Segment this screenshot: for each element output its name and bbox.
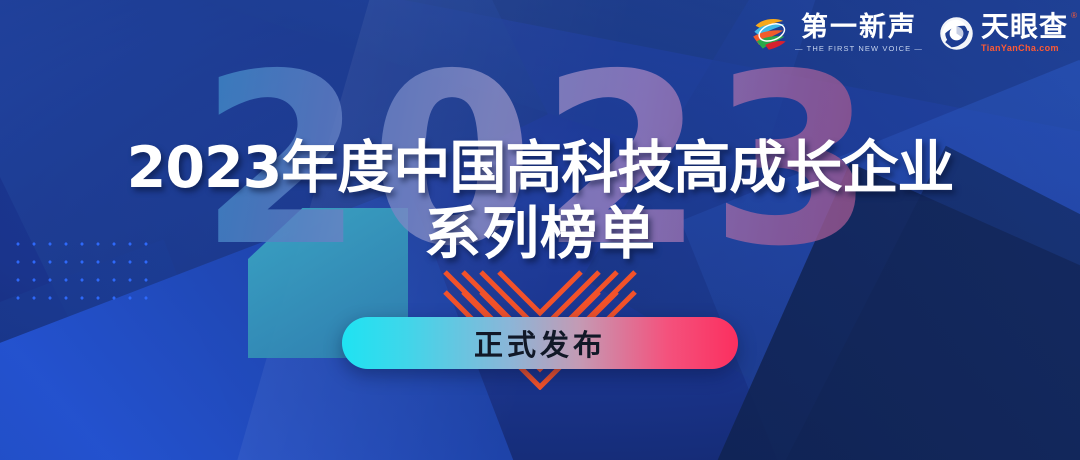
logo-bar: 第一新声 — THE FIRST NEW VOICE — 天眼查 ® TianY…: [752, 13, 1068, 53]
release-badge-label: 正式发布: [474, 322, 606, 364]
poster-banner: 2023 2023年度中国高科技高成长企业 系列榜单 正式发布: [0, 0, 1080, 460]
camera-aperture-icon: [939, 16, 974, 51]
title-line-1: 2023年度中国高科技高成长企业: [0, 134, 1080, 202]
logo-tianyancha[interactable]: 天眼查 ® TianYanCha.com: [939, 13, 1068, 53]
release-badge[interactable]: 正式发布: [342, 317, 738, 369]
poster-title: 2023年度中国高科技高成长企业 系列榜单: [0, 134, 1080, 266]
registered-trademark-icon: ®: [1071, 11, 1077, 20]
swoosh-logo-icon: [752, 16, 788, 50]
first-new-voice-tagline: — THE FIRST NEW VOICE —: [795, 44, 923, 53]
first-new-voice-name: 第一新声: [801, 14, 917, 42]
tianyancha-name: 天眼查: [981, 13, 1068, 41]
release-badge-pill[interactable]: 正式发布: [342, 317, 738, 369]
logo-first-new-voice[interactable]: 第一新声 — THE FIRST NEW VOICE —: [752, 14, 923, 53]
tianyancha-domain: TianYanCha.com: [981, 43, 1059, 53]
title-line-2: 系列榜单: [0, 202, 1080, 266]
first-new-voice-text: 第一新声 — THE FIRST NEW VOICE —: [795, 14, 923, 53]
tianyancha-text: 天眼查 ® TianYanCha.com: [981, 13, 1068, 53]
